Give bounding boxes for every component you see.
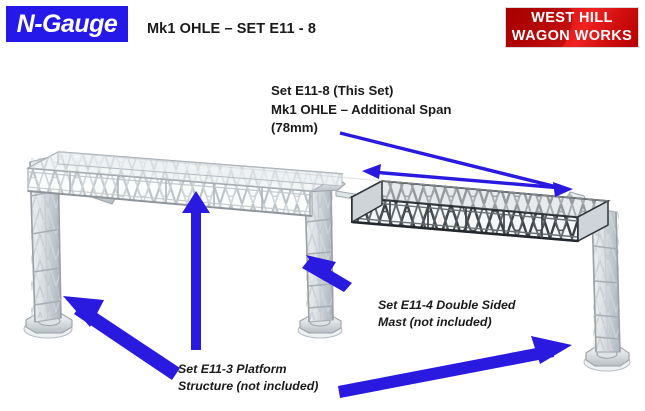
- diagram-page: N-Gauge Mk1 OHLE – SET E11 - 8 WEST HILL…: [0, 0, 645, 411]
- annotation-mast-line1: Set E11-4 Double Sided: [378, 297, 515, 314]
- ohle-gantry-illustration: [0, 0, 645, 411]
- annotation-platform-line2: Structure (not included): [178, 378, 318, 395]
- whww-logo-line2: WAGON WORKS: [512, 28, 632, 46]
- annotation-platform-structure: Set E11-3 Platform Structure (not includ…: [178, 361, 318, 395]
- annotation-this-set: Set E11-8 (This Set) Mk1 OHLE – Addition…: [271, 82, 452, 138]
- annotation-double-sided-mast: Set E11-4 Double Sided Mast (not include…: [378, 297, 515, 331]
- annotation-platform-line1: Set E11-3 Platform: [178, 361, 318, 378]
- west-hill-wagon-works-logo: WEST HILL WAGON WORKS: [505, 7, 639, 48]
- annotation-this-set-line1: Set E11-8 (This Set): [271, 82, 452, 101]
- whww-logo-line1: WEST HILL: [531, 10, 613, 28]
- ngauge-logo-text: N-Gauge: [17, 12, 118, 37]
- annotation-mast-line2: Mast (not included): [378, 314, 515, 331]
- annotation-this-set-line2: Mk1 OHLE – Additional Span: [271, 101, 452, 120]
- annotation-this-set-line3: (78mm): [271, 119, 452, 138]
- truss-span-left: [28, 152, 342, 216]
- ngauge-logo: N-Gauge: [6, 6, 128, 42]
- page-title: Mk1 OHLE – SET E11 - 8: [147, 21, 316, 37]
